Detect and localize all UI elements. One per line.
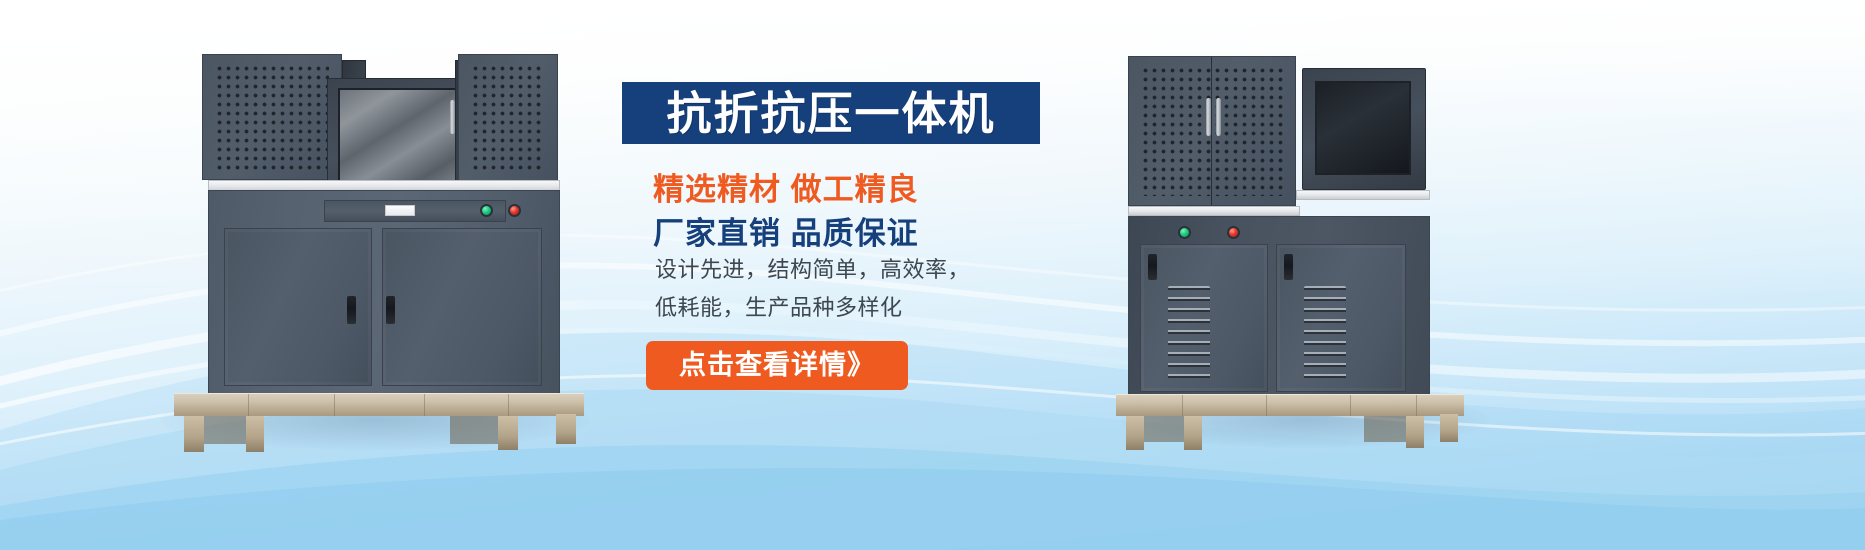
subheading-primary: 精选精材 做工精良	[653, 164, 919, 209]
perforation-pattern	[471, 64, 545, 172]
upper-door-handle-b[interactable]	[1216, 98, 1221, 136]
pallet-leg	[1126, 416, 1144, 450]
control-label	[385, 205, 415, 216]
pallet-leg	[556, 414, 576, 444]
description-line-2: 低耗能，生产品种多样化	[655, 290, 903, 322]
ventilation-louvers-left	[1168, 286, 1210, 382]
red-indicator-light[interactable]	[508, 204, 521, 217]
deck-strip-upper	[1128, 206, 1300, 216]
wooden-pallet	[174, 393, 584, 416]
pallet-leg	[498, 416, 518, 450]
red-indicator-light[interactable]	[1227, 226, 1240, 239]
view-details-button[interactable]: 点击查看详情》	[646, 341, 908, 390]
cabinet-door-right[interactable]	[382, 228, 542, 386]
pallet-gap	[1144, 416, 1188, 442]
pallet-gap	[450, 416, 502, 444]
pallet-leg	[184, 416, 204, 452]
pallet-leg	[246, 416, 264, 452]
wooden-pallet	[1116, 394, 1464, 416]
control-drawer	[324, 200, 506, 222]
vented-door-handle-left[interactable]	[1148, 254, 1157, 280]
monitor-housing	[327, 78, 473, 194]
green-indicator-light[interactable]	[1178, 226, 1191, 239]
product-image-right	[1110, 42, 1500, 438]
subheading-secondary: 厂家直销 品质保证	[653, 208, 919, 253]
cabinet-handle-upper-right	[450, 100, 455, 134]
product-image-left	[150, 38, 600, 438]
view-details-button-label: 点击查看详情》	[679, 352, 875, 379]
pallet-leg	[1440, 414, 1458, 442]
upper-cabinet-door-seam	[1211, 57, 1212, 205]
description-line-1: 设计先进，结构简单，高效率，	[655, 252, 970, 284]
door-handle-left[interactable]	[347, 296, 356, 324]
monitor-screen	[1315, 81, 1411, 175]
perforated-panel-left	[202, 54, 342, 180]
vented-door-handle-right[interactable]	[1284, 254, 1293, 280]
pallet-leg	[1406, 416, 1424, 448]
monitor-housing	[1302, 68, 1426, 190]
green-indicator-light[interactable]	[480, 204, 493, 217]
door-handle-right[interactable]	[386, 296, 395, 324]
pallet-gap	[1364, 416, 1410, 442]
perforated-panel-right	[458, 54, 558, 182]
ventilation-louvers-right	[1304, 286, 1346, 382]
perforated-cabinet-upper	[1128, 56, 1296, 206]
promo-banner: 抗折抗压一体机 精选精材 做工精良 厂家直销 品质保证 设计先进，结构简单，高效…	[0, 0, 1865, 550]
page-title: 抗折抗压一体机	[666, 91, 995, 136]
deck-strip-lower	[1296, 190, 1430, 200]
perforation-pattern	[1141, 66, 1283, 196]
perforation-pattern	[215, 64, 329, 170]
pallet-leg	[1184, 416, 1202, 450]
pallet-gap	[202, 416, 250, 444]
headline-band: 抗折抗压一体机	[622, 82, 1040, 144]
monitor-screen	[338, 88, 458, 182]
